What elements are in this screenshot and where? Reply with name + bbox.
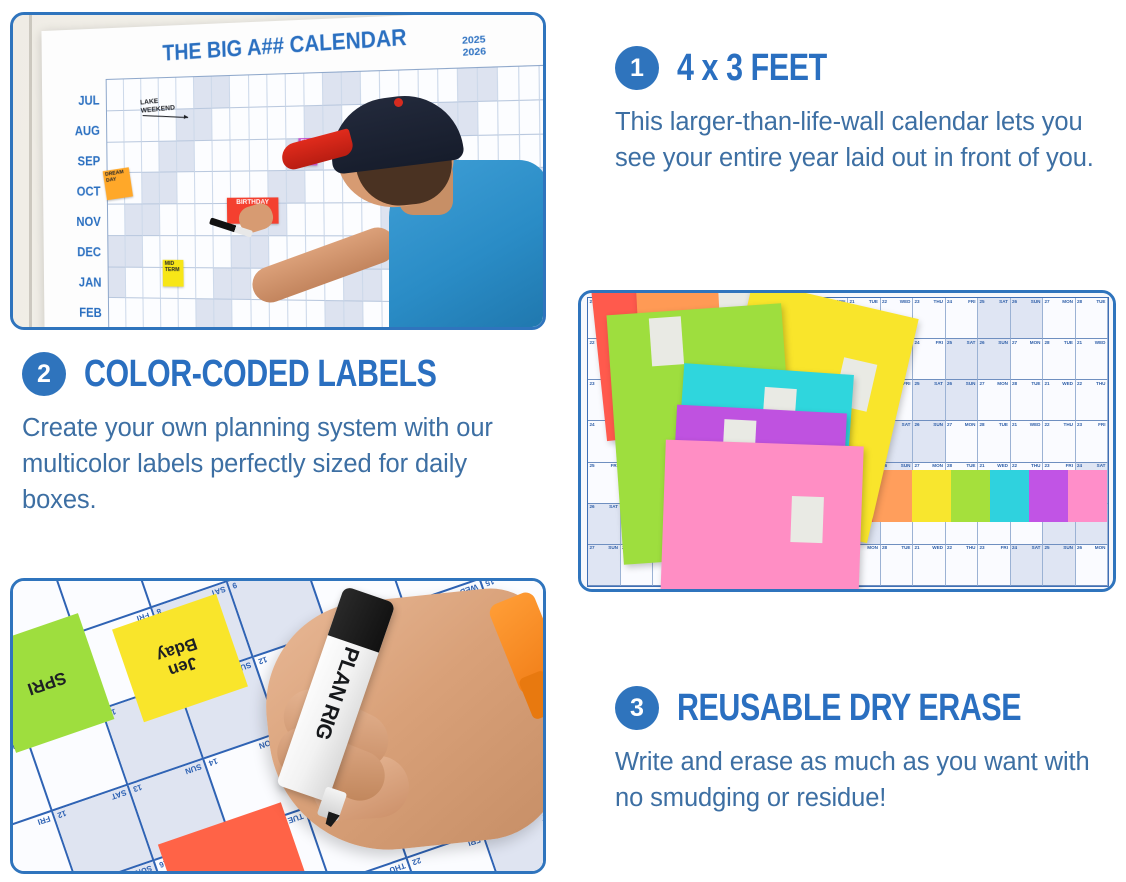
wall-edge	[29, 15, 32, 327]
day-weekday: WED	[1095, 340, 1106, 345]
calendar-day-cell	[197, 299, 215, 330]
photo-panel-wall-calendar: THE BIG A## CALENDAR 2025 2026 JULAUGSEP…	[10, 12, 546, 330]
person-writing	[289, 95, 546, 330]
calendar-month-column: JULAUGSEPOCTNOVDECJANFEB	[56, 85, 104, 328]
calendar-day-cell	[142, 173, 160, 205]
calendar-month-nov: NOV	[59, 207, 101, 237]
calendar-title: THE BIG A## CALENDAR	[162, 23, 407, 66]
day-number: 28	[1077, 299, 1082, 304]
label-calendar-day-cell: 22THU	[1043, 421, 1076, 462]
label-calendar-day-cell: 26SUN	[978, 339, 1011, 380]
day-weekday: SAT	[967, 340, 976, 345]
label-calendar-day-cell: 27MON	[1011, 339, 1044, 380]
feature-1-title: 4 x 3 FEET	[677, 49, 827, 87]
day-number: 22	[411, 855, 422, 866]
calendar-day-cell	[232, 236, 251, 268]
day-weekday: SAT	[999, 299, 1008, 304]
day-number: 25	[947, 340, 952, 345]
calendar-month-jul: JUL	[58, 85, 100, 116]
calendar-day-cell	[108, 205, 126, 236]
label-sheet-pink	[660, 440, 863, 592]
day-weekday: MON	[932, 463, 943, 468]
day-weekday: SAT	[1032, 545, 1041, 550]
day-weekday: FRI	[1001, 545, 1008, 550]
day-number: 26	[915, 422, 920, 427]
label-calendar-day-cell: 26SUN	[1011, 298, 1044, 339]
day-number: 23	[915, 299, 920, 304]
day-number: 24	[590, 422, 595, 427]
calendar-day-cell	[215, 300, 233, 330]
sticky-note-yellow: MIDTERM	[163, 260, 184, 287]
label-calendar-day-cell: 28TUE	[1043, 339, 1076, 380]
calendar-day-cell	[160, 173, 178, 205]
day-weekday: WED	[1062, 381, 1073, 386]
feature-2-body: Create your own planning system with our…	[22, 410, 532, 519]
day-number: 21	[980, 463, 985, 468]
feature-2-title: COLOR-CODED LABELS	[84, 355, 437, 393]
applied-label	[1068, 470, 1107, 522]
calendar-day-cell	[249, 107, 268, 140]
calendar-day-cell	[143, 204, 161, 236]
label-calendar-day-cell: 24FRI	[913, 339, 946, 380]
label-orange-small	[425, 328, 438, 330]
day-weekday: SAT	[609, 504, 618, 509]
label-calendar-day-cell: 23FRI	[978, 545, 1011, 586]
hand-background: 1MON2TUE3WED4THU5FRI6SAT7SUN8MON9TUE10WE…	[13, 581, 543, 871]
day-weekday: MON	[1030, 340, 1041, 345]
label-green-text: SPRI	[25, 668, 68, 698]
day-number: 14	[207, 756, 218, 767]
label-calendar-day-cell: 21WED	[913, 545, 946, 586]
calendar-day-cell	[144, 299, 162, 330]
day-number: 21	[1077, 340, 1082, 345]
cap-button	[394, 98, 403, 107]
day-number: 28	[980, 422, 985, 427]
calendar-month-sep: SEP	[59, 146, 101, 177]
feature-3-badge: 3	[615, 686, 659, 730]
day-number: 26	[947, 381, 952, 386]
day-number: 26	[1012, 299, 1017, 304]
calendar-day-cell	[267, 107, 286, 140]
infographic-page: THE BIG A## CALENDAR 2025 2026 JULAUGSEP…	[0, 0, 1126, 882]
day-number: 27	[1045, 299, 1050, 304]
calendar-day-cell	[178, 172, 196, 204]
feature-3-title: REUSABLE DRY ERASE	[677, 689, 1021, 727]
labels-background: 21MON22TUE23WED24THU25FRI26SAT27SUN28MON…	[581, 293, 1113, 589]
day-weekday: SAT	[110, 788, 127, 802]
label-calendar-day-cell: 27MON	[978, 380, 1011, 421]
day-number: 24	[947, 299, 952, 304]
day-weekday: TUE	[1064, 340, 1073, 345]
wall-background: THE BIG A## CALENDAR 2025 2026 JULAUGSEP…	[13, 15, 543, 327]
calendar-day-cell	[195, 140, 213, 172]
label-calendar-day-cell: 22THU	[1076, 380, 1109, 421]
applied-label	[951, 470, 990, 522]
calendar-day-cell	[251, 300, 270, 330]
calendar-day-cell	[213, 140, 231, 172]
day-weekday: MON	[1062, 299, 1073, 304]
calendar-month-dec: DEC	[60, 237, 102, 267]
day-weekday: TUE	[869, 299, 878, 304]
calendar-day-cell	[107, 79, 125, 111]
calendar-day-cell	[179, 299, 197, 330]
calendar-day-cell	[125, 204, 143, 235]
calendar-day-cell	[159, 109, 177, 141]
feature-block-1: 1 4 x 3 FEET This larger-than-life-wall …	[615, 46, 1095, 176]
day-weekday: SUN	[1031, 299, 1041, 304]
day-weekday: SUN	[966, 381, 976, 386]
calendar-day-cell	[126, 298, 144, 330]
calendar-day-cell	[267, 74, 286, 107]
calendar-day-cell	[196, 236, 214, 268]
calendar-month-aug: AUG	[58, 116, 100, 147]
day-weekday: SAT	[1097, 463, 1106, 468]
label-calendar-day-cell: 25SUN	[1043, 545, 1076, 586]
day-weekday: TUE	[966, 463, 975, 468]
day-weekday: SUN	[1063, 545, 1073, 550]
day-weekday: FRI	[936, 340, 943, 345]
calendar-day-cell	[195, 172, 213, 204]
day-number: 27	[915, 463, 920, 468]
day-number: 27	[1012, 340, 1017, 345]
feature-1-heading-row: 1 4 x 3 FEET	[615, 46, 1095, 90]
day-weekday: FRI	[1066, 463, 1073, 468]
day-number: 27	[980, 381, 985, 386]
day-number: 15	[484, 581, 495, 588]
label-calendar-day-cell: 27SUN	[588, 545, 621, 586]
day-weekday: TUE	[901, 545, 910, 550]
day-weekday: SAT	[902, 422, 911, 427]
calendar-day-cell	[194, 77, 212, 109]
feature-1-badge: 1	[615, 46, 659, 90]
calendar-day-cell	[233, 300, 252, 330]
day-weekday: THU	[1096, 381, 1105, 386]
calendar-day-cell	[177, 109, 195, 141]
calendar-day-cell	[232, 268, 251, 300]
day-number: 25	[590, 463, 595, 468]
feature-2-heading-row: 2 COLOR-CODED LABELS	[22, 352, 532, 396]
feature-3-heading-row: 3 REUSABLE DRY ERASE	[615, 686, 1095, 730]
day-weekday: WED	[900, 299, 911, 304]
calendar-day-cell	[230, 75, 249, 108]
day-number: 27	[590, 545, 595, 550]
calendar-day-cell	[161, 299, 179, 330]
day-number: 21	[1012, 422, 1017, 427]
day-number: 28	[1045, 340, 1050, 345]
feature-3-body: Write and erase as much as you want with…	[615, 744, 1095, 816]
day-weekday: FRI	[968, 299, 975, 304]
label-calendar-day-cell: 26MON	[1076, 545, 1109, 586]
label-calendar-day-cell: 26SUN	[946, 380, 979, 421]
day-weekday: MON	[1095, 545, 1106, 550]
day-number: 28	[947, 463, 952, 468]
day-number: 21	[1045, 381, 1050, 386]
calendar-day-cell	[178, 204, 196, 236]
calendar-day-cell	[249, 75, 268, 108]
day-number: 28	[882, 545, 887, 550]
day-weekday: WED	[932, 545, 943, 550]
calendar-day-cell	[250, 236, 269, 268]
calendar-day-cell	[249, 139, 268, 171]
calendar-day-cell	[213, 108, 231, 140]
year-end: 2026	[462, 46, 486, 60]
day-number: 23	[1077, 422, 1082, 427]
calendar-day-cell	[231, 140, 250, 172]
day-weekday: SUN	[933, 422, 943, 427]
feature-2-badge: 2	[22, 352, 66, 396]
label-calendar-day-cell: 28TUE	[978, 421, 1011, 462]
day-number: 22	[1077, 381, 1082, 386]
day-number: 26	[980, 340, 985, 345]
calendar-day-cell	[124, 110, 142, 142]
label-yellow-text: JenBday	[155, 634, 206, 681]
feature-block-3: 3 REUSABLE DRY ERASE Write and erase as …	[615, 686, 1095, 816]
label-calendar-day-cell: 28TUE	[1011, 380, 1044, 421]
photo-panel-dry-erase-hand: 1MON2TUE3WED4THU5FRI6SAT7SUN8MON9TUE10WE…	[10, 578, 546, 874]
day-number: 23	[980, 545, 985, 550]
calendar-day-cell	[109, 267, 127, 298]
calendar-day-cell	[109, 298, 127, 330]
day-weekday: MON	[867, 545, 878, 550]
feature-1-body: This larger-than-life-wall calendar lets…	[615, 104, 1095, 176]
applied-label	[912, 470, 951, 522]
calendar-day-cell	[160, 141, 178, 173]
calendar-day-cell	[160, 204, 178, 236]
calendar-years: 2025 2026	[462, 34, 486, 60]
label-calendar-day-cell: 21WED	[1043, 380, 1076, 421]
day-number: 26	[1077, 545, 1082, 550]
sticky-note-orange: DREAMDAY	[103, 167, 133, 200]
calendar-day-cell	[214, 236, 232, 268]
calendar-day-cell	[196, 268, 214, 300]
day-weekday: THU	[966, 545, 975, 550]
label-calendar-day-cell: 28TUE	[1076, 298, 1109, 339]
day-weekday: SUN	[998, 340, 1008, 345]
calendar-day-cell	[177, 77, 195, 109]
label-calendar-day-cell: 24SAT	[1011, 545, 1044, 586]
day-weekday: FRI	[36, 814, 51, 827]
day-number: 22	[590, 340, 595, 345]
day-number: 22	[947, 545, 952, 550]
day-weekday: MON	[997, 381, 1008, 386]
day-weekday: THU	[1031, 463, 1040, 468]
day-weekday: TUE	[1031, 381, 1040, 386]
label-calendar-day-cell: 25SAT	[913, 380, 946, 421]
label-calendar-day-cell: 26SAT	[588, 504, 621, 545]
day-weekday: THU	[1064, 422, 1073, 427]
label-calendar-day-cell: 25SAT	[946, 339, 979, 380]
calendar-day-cell	[177, 141, 195, 173]
day-number: 24	[1077, 463, 1082, 468]
calendar-day-cell	[214, 268, 232, 300]
calendar-day-cell	[126, 267, 144, 299]
day-number: 12	[257, 655, 268, 666]
calendar-day-cell	[107, 111, 125, 143]
day-number: 24	[1012, 545, 1017, 550]
day-weekday: FRI	[1098, 422, 1105, 427]
label-calendar-day-cell: 25FRI	[588, 463, 621, 504]
label-calendar-day-cell: 26SUN	[913, 421, 946, 462]
day-number: 24	[915, 340, 920, 345]
calendar-day-cell	[142, 141, 160, 173]
day-number: 12	[56, 808, 67, 819]
day-number: 25	[915, 381, 920, 386]
label-calendar-day-cell: 27MON	[946, 421, 979, 462]
label-calendar-day-cell: 22THU	[946, 545, 979, 586]
day-weekday: SUN	[608, 545, 618, 550]
calendar-day-cell	[126, 236, 144, 267]
calendar-month-oct: OCT	[59, 176, 101, 207]
photo-panel-color-labels: 21MON22TUE23WED24THU25FRI26SAT27SUN28MON…	[578, 290, 1116, 592]
calendar-month-feb: FEB	[60, 297, 102, 328]
label-calendar-day-cell: 23FRI	[1076, 421, 1109, 462]
day-number: 22	[1012, 463, 1017, 468]
day-weekday: SAT	[934, 381, 943, 386]
calendar-day-cell	[108, 236, 126, 267]
calendar-month-jan: JAN	[60, 267, 102, 298]
label-calendar-day-cell: 28TUE	[881, 545, 914, 586]
day-weekday: SUN	[901, 463, 911, 468]
feature-block-2: 2 COLOR-CODED LABELS Create your own pla…	[22, 352, 532, 519]
day-weekday: WED	[997, 463, 1008, 468]
calendar-day-cell	[231, 108, 250, 140]
day-number: 23	[590, 381, 595, 386]
day-weekday: WED	[1030, 422, 1041, 427]
calendar-day-cell	[143, 267, 161, 299]
calendar-day-cell	[269, 301, 288, 330]
label-calendar-day-cell: 21WED	[1011, 421, 1044, 462]
day-number: 28	[1012, 381, 1017, 386]
day-number: 23	[1045, 463, 1050, 468]
calendar-day-cell	[124, 79, 142, 111]
label-calendar-day-cell: 27MON	[1043, 298, 1076, 339]
day-number: 27	[947, 422, 952, 427]
calendar-day-cell	[143, 236, 161, 268]
day-number: 25	[980, 299, 985, 304]
day-number: 22	[882, 299, 887, 304]
day-number: 25	[1045, 545, 1050, 550]
calendar-day-cell	[195, 108, 213, 140]
applied-label	[1029, 470, 1068, 522]
label-calendar-day-cell: 24FRI	[946, 298, 979, 339]
day-number: 13	[132, 782, 143, 793]
day-weekday: TUE	[1096, 299, 1105, 304]
day-weekday: TUE	[999, 422, 1008, 427]
label-calendar-day-cell: 25SAT	[978, 298, 1011, 339]
handwritten-note-lake-weekend: LAKEWEEKEND	[140, 96, 175, 116]
day-number: 26	[590, 504, 595, 509]
applied-label	[990, 470, 1029, 522]
label-calendar-day-cell: 21WED	[1076, 339, 1109, 380]
day-number: 22	[1045, 422, 1050, 427]
day-weekday: MON	[965, 422, 976, 427]
calendar-day-cell	[212, 76, 230, 108]
day-weekday: THU	[934, 299, 943, 304]
day-number: 9	[231, 581, 238, 590]
day-number: 21	[915, 545, 920, 550]
